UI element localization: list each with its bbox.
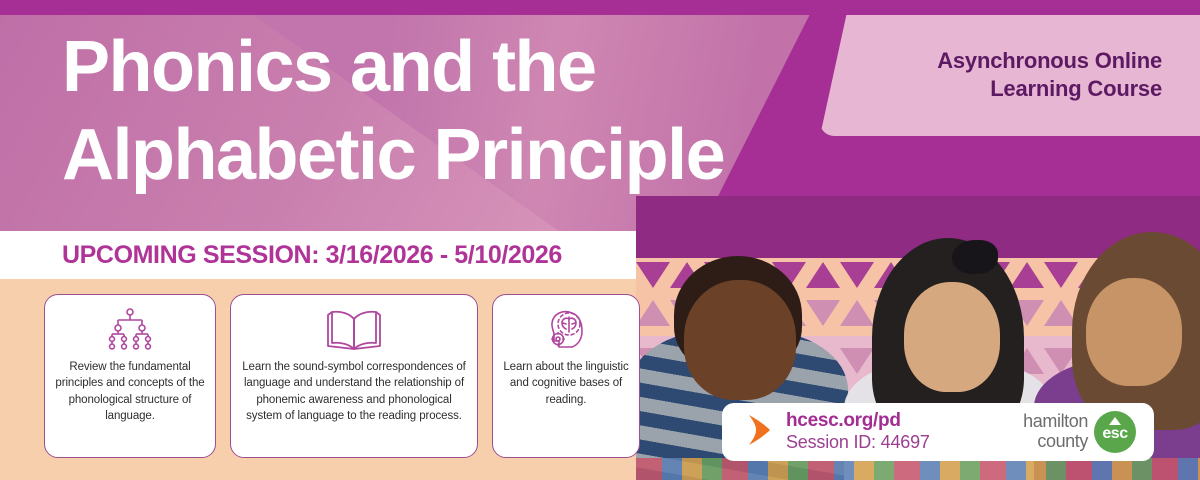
brain-head-gear-icon — [542, 307, 590, 353]
esc-circle-mark: esc — [1094, 411, 1136, 453]
session-date-label: UPCOMING SESSION: 3/16/2026 - 5/10/2026 — [0, 241, 562, 270]
page-title: Phonics and the Alphabetic Principle — [62, 24, 962, 200]
hamilton-county-esc-logo: hamilton county esc — [1023, 411, 1136, 453]
title-line-2: Alphabetic Principle — [62, 112, 962, 200]
feature-card-3-text: Learn about the linguistic and cognitive… — [503, 359, 629, 408]
triangle-icon — [1109, 417, 1121, 425]
classroom-carpet — [636, 458, 1200, 480]
feature-cards: Review the fundamental principles and co… — [44, 294, 640, 458]
hierarchy-tree-icon — [107, 307, 153, 353]
open-book-icon — [323, 307, 385, 353]
chevron-right-icon — [746, 413, 772, 452]
url-logo-bar[interactable]: hcesc.org/pd Session ID: 44697 hamilton … — [722, 403, 1154, 461]
feature-card-3: Learn about the linguistic and cognitive… — [492, 294, 640, 458]
course-type-line-2: Learning Course — [937, 75, 1162, 103]
title-line-1: Phonics and the — [62, 24, 962, 112]
child-center-face — [904, 282, 1000, 392]
promotional-banner: Asynchronous Online Learning Course Phon… — [0, 0, 1200, 480]
esc-label: esc — [1102, 425, 1127, 443]
child-left-face — [684, 280, 796, 400]
session-bar: UPCOMING SESSION: 3/16/2026 - 5/10/2026 — [0, 231, 660, 279]
feature-card-1-text: Review the fundamental principles and co… — [55, 359, 205, 424]
course-type-line-1: Asynchronous Online — [937, 47, 1162, 75]
feature-card-2: Learn the sound-symbol correspondences o… — [230, 294, 478, 458]
website-url[interactable]: hcesc.org/pd — [786, 410, 1023, 432]
session-id: Session ID: 44697 — [786, 432, 1023, 454]
url-text-group: hcesc.org/pd Session ID: 44697 — [786, 410, 1023, 454]
logo-wordmark: hamilton county — [1023, 412, 1088, 452]
course-type-text: Asynchronous Online Learning Course — [937, 47, 1200, 103]
logo-line-1: hamilton — [1023, 412, 1088, 432]
child-center-hair-bow — [952, 240, 998, 274]
top-accent-strip — [0, 0, 1200, 15]
feature-card-1: Review the fundamental principles and co… — [44, 294, 216, 458]
feature-card-2-text: Learn the sound-symbol correspondences o… — [241, 359, 467, 424]
logo-line-2: county — [1023, 432, 1088, 452]
child-right-face — [1086, 278, 1182, 386]
